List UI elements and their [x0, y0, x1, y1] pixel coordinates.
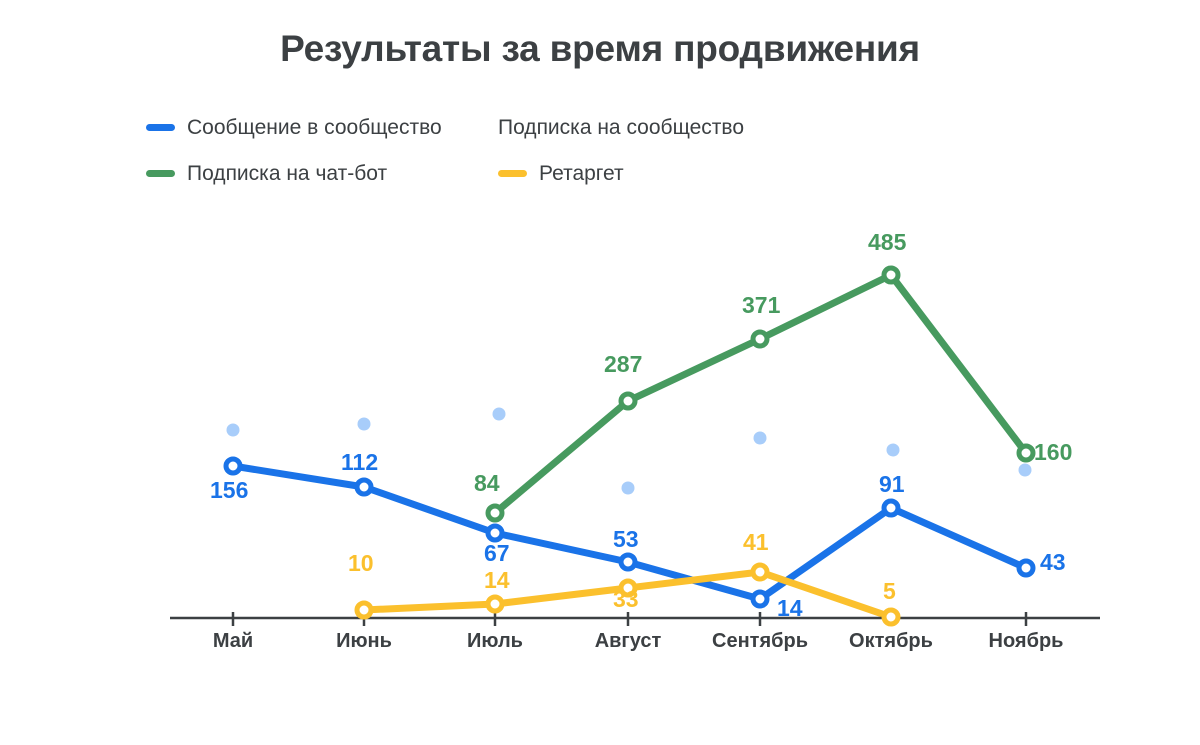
x-tick-label: Август [595, 630, 662, 653]
data-point-marker[interactable] [753, 592, 767, 606]
data-point-marker[interactable] [357, 603, 371, 617]
scatter-dot [622, 482, 635, 495]
legend-item-label: Подписка на сообщество [498, 117, 744, 138]
chart-container: Результаты за время продвижения Сообщени… [0, 0, 1200, 745]
legend-item-podpiska-chatbot[interactable]: Подписка на чат-бот [146, 163, 498, 184]
value-label: 43 [1040, 551, 1066, 574]
value-label: 485 [868, 231, 906, 254]
value-label: 14 [777, 597, 803, 620]
value-label: 41 [743, 531, 769, 554]
scatter-dot [1019, 464, 1032, 477]
chart-legend: Сообщение в сообщество Подписка на сообщ… [146, 110, 1046, 190]
data-point-marker[interactable] [488, 506, 502, 520]
data-point-marker[interactable] [753, 565, 767, 579]
legend-item-retarget[interactable]: Ретаргет [498, 163, 624, 184]
x-tick-label: Май [213, 630, 253, 653]
data-point-marker[interactable] [488, 597, 502, 611]
value-label: 14 [484, 569, 510, 592]
x-tick-label: Октябрь [849, 630, 933, 653]
data-point-marker[interactable] [753, 332, 767, 346]
legend-swatch-icon [146, 124, 175, 131]
data-point-marker[interactable] [488, 526, 502, 540]
scatter-dot [227, 424, 240, 437]
value-label: 112 [341, 451, 378, 474]
value-label: 67 [484, 542, 510, 565]
scatter-dot [754, 432, 767, 445]
x-tick-label: Июнь [336, 630, 392, 653]
data-point-marker[interactable] [884, 268, 898, 282]
legend-item-soobshchenie[interactable]: Сообщение в сообщество [146, 117, 498, 138]
value-label: 10 [348, 552, 374, 575]
data-point-marker[interactable] [357, 480, 371, 494]
x-axis [170, 612, 1100, 626]
legend-row: Подписка на чат-бот Ретаргет [146, 156, 1046, 190]
data-point-marker[interactable] [1019, 561, 1033, 575]
data-point-marker[interactable] [1019, 446, 1033, 460]
scatter-dot [493, 408, 506, 421]
scatter-dot [358, 418, 371, 431]
legend-item-podpiska-soobshchestvo[interactable]: Подписка на сообщество [498, 117, 744, 138]
value-label: 91 [879, 473, 905, 496]
legend-item-label: Ретаргет [539, 163, 624, 184]
value-label: 371 [742, 294, 780, 317]
x-tick-label: Ноябрь [989, 630, 1064, 653]
x-axis-labels: Май Июнь Июль Август Сентябрь Октябрь Но… [0, 630, 1200, 660]
value-label: 287 [604, 353, 642, 376]
value-label: 160 [1034, 441, 1072, 464]
data-point-marker[interactable] [884, 501, 898, 515]
data-point-marker[interactable] [621, 555, 635, 569]
legend-item-label: Сообщение в сообщество [187, 117, 442, 138]
data-point-marker[interactable] [884, 610, 898, 624]
value-label: 53 [613, 528, 639, 551]
x-tick-label: Июль [467, 630, 523, 653]
page-title: Результаты за время продвижения [0, 28, 1200, 70]
legend-swatch-icon [498, 170, 527, 177]
x-tick-label: Сентябрь [712, 630, 808, 653]
value-label: 156 [210, 479, 248, 502]
data-point-marker[interactable] [621, 394, 635, 408]
legend-row: Сообщение в сообщество Подписка на сообщ… [146, 110, 1046, 144]
value-label: 5 [883, 580, 896, 603]
value-label: 84 [474, 472, 500, 495]
value-label: 33 [613, 588, 639, 611]
data-point-marker[interactable] [226, 459, 240, 473]
legend-swatch-icon [146, 170, 175, 177]
legend-item-label: Подписка на чат-бот [187, 163, 387, 184]
scatter-dot [887, 444, 900, 457]
